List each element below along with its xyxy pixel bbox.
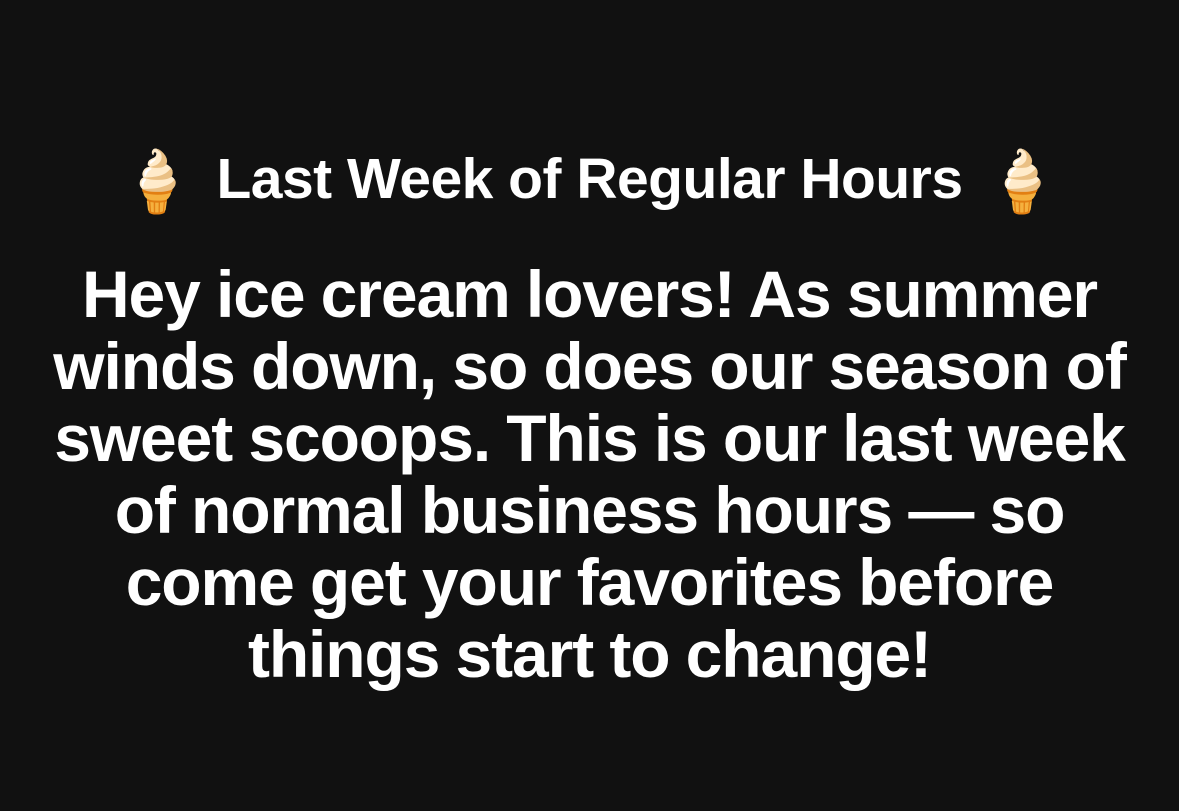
page-title: Last Week of Regular Hours xyxy=(216,150,962,210)
announcement-poster: 🍦 Last Week of Regular Hours 🍦 Hey ice c… xyxy=(0,0,1179,811)
body-block: Hey ice cream lovers! As summer winds do… xyxy=(50,258,1129,690)
announcement-paragraph: Hey ice cream lovers! As summer winds do… xyxy=(50,258,1129,690)
ice-cream-cone-icon-left: 🍦 xyxy=(120,152,195,212)
headline-row: 🍦 Last Week of Regular Hours 🍦 xyxy=(0,112,1179,248)
ice-cream-cone-icon-right: 🍦 xyxy=(985,152,1060,212)
